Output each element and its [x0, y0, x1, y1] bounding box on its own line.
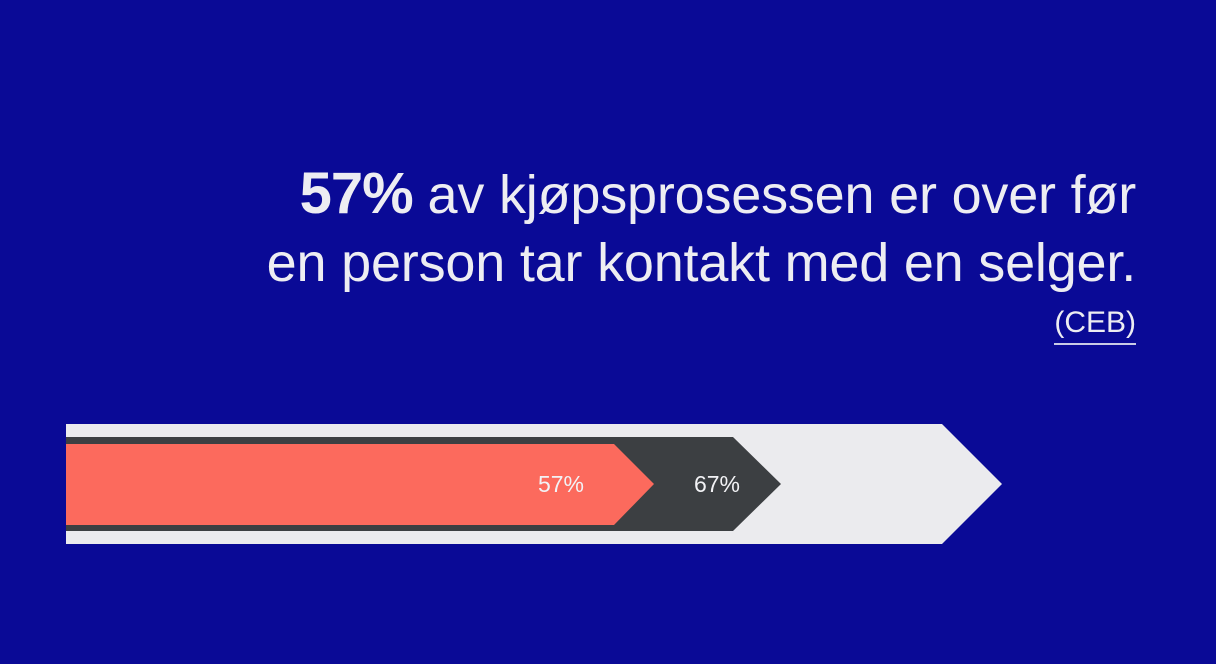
chart-label-67: 67% — [694, 471, 740, 497]
arrow-bar-chart: 57% 67% — [66, 424, 1006, 545]
infographic-canvas: 57% av kjøpsprosessen er over før en per… — [0, 0, 1216, 664]
headline-block: 57% av kjøpsprosessen er over før en per… — [0, 160, 1136, 345]
headline-line-1: 57% av kjøpsprosessen er over før — [0, 160, 1136, 229]
headline-statistic: 57% — [300, 161, 413, 226]
source-citation: (CEB) — [0, 305, 1136, 345]
source-close-paren: ) — [1126, 306, 1136, 339]
source-link-ceb[interactable]: CEB — [1064, 306, 1126, 339]
source-underline: (CEB) — [1054, 305, 1136, 345]
headline-line-2: en person tar kontakt med en selger. — [0, 229, 1136, 297]
source-open-paren: ( — [1054, 306, 1064, 339]
headline-line-1-text: av kjøpsprosessen er over før — [413, 165, 1136, 225]
chart-label-57: 57% — [538, 471, 584, 497]
arrow-chart-svg: 57% 67% — [66, 424, 1006, 545]
